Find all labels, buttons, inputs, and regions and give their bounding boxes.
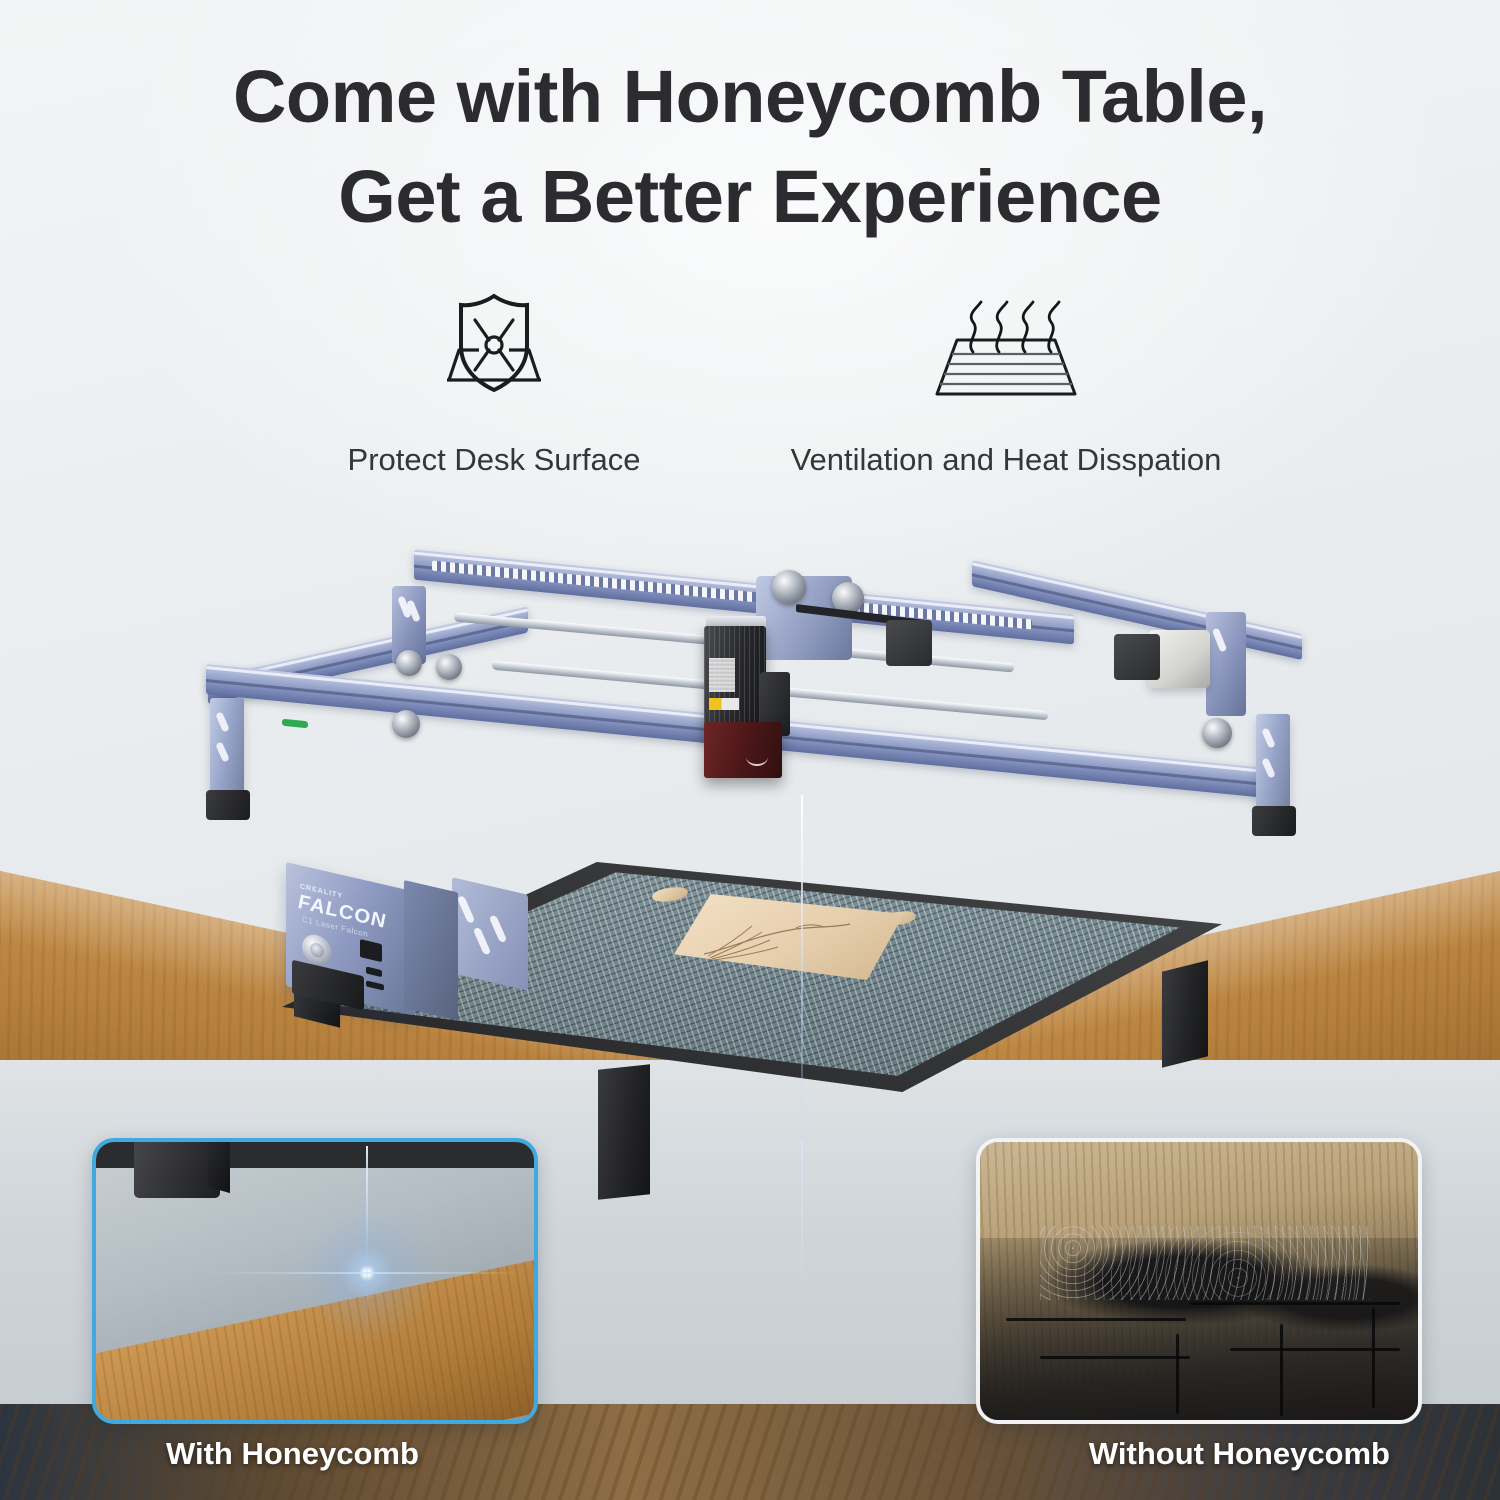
laser-spot-flare: [272, 1198, 462, 1348]
product-marketing-image: Come with Honeycomb Table, Get a Better …: [0, 0, 1500, 1500]
honeycomb-leg: [1162, 960, 1208, 1067]
gantry-end-right: [1206, 612, 1246, 716]
headline-line-1: Come with Honeycomb Table,: [0, 60, 1500, 134]
rail-brand-text: CREALITY: [352, 737, 423, 756]
y-axis-pulley: [1202, 718, 1232, 748]
honeycomb-leg: [598, 1064, 650, 1199]
stepper-motor-x: [886, 620, 932, 666]
wood-crack-vertical: [1372, 1308, 1375, 1408]
idler-pulley: [396, 650, 422, 676]
laser-module: [704, 626, 782, 776]
belt-pulley: [772, 570, 806, 604]
headline-line-2: Get a Better Experience: [0, 160, 1500, 234]
comparison-label-left: With Honeycomb: [166, 1436, 419, 1472]
feature-protect-desk: Protect Desk Surface: [284, 288, 704, 478]
shield-desk-icon: [419, 288, 569, 416]
comparison-panel-without-honeycomb: [976, 1138, 1422, 1424]
rubber-foot-left: [206, 790, 250, 820]
panel-table-leg: [134, 1138, 220, 1198]
frame-leg-right: [1256, 714, 1290, 810]
wood-crack-vertical: [1176, 1334, 1179, 1414]
idler-pulley: [392, 710, 420, 738]
laser-aperture-arc: [746, 748, 768, 766]
feature-caption: Ventilation and Heat Disspation: [791, 442, 1222, 478]
wood-crack-vertical: [1280, 1324, 1283, 1416]
engraved-artwork: [700, 914, 860, 962]
controller-side-panel: [404, 880, 458, 1020]
laser-warning-label: [709, 698, 739, 710]
feature-row: Protect Desk Surface Ventilation and Hea…: [0, 288, 1500, 478]
motor-back-plate: [1114, 634, 1160, 680]
ventilation-heat-icon: [901, 288, 1111, 416]
laser-lens-housing: [704, 722, 782, 778]
idler-pulley: [436, 654, 462, 680]
comparison-label-right: Without Honeycomb: [1089, 1436, 1390, 1472]
char-texture: [1040, 1226, 1370, 1300]
frame-leg-left: [210, 698, 244, 794]
feature-ventilation-heat: Ventilation and Heat Disspation: [796, 288, 1216, 478]
comparison-panel-with-honeycomb: [92, 1138, 538, 1424]
laser-engraver-machine: CREALITY: [196, 568, 1306, 898]
wood-crack: [1040, 1356, 1190, 1359]
laser-spec-label: [709, 658, 735, 692]
green-sticker: [282, 719, 308, 729]
rubber-foot-right: [1252, 806, 1296, 836]
wood-crack: [1190, 1302, 1400, 1305]
page-title: Come with Honeycomb Table, Get a Better …: [0, 60, 1500, 234]
wood-crack: [1006, 1318, 1186, 1321]
laser-beam-lower: [801, 1140, 803, 1280]
feature-caption: Protect Desk Surface: [348, 442, 641, 478]
side-bracket-plate: [452, 877, 528, 991]
